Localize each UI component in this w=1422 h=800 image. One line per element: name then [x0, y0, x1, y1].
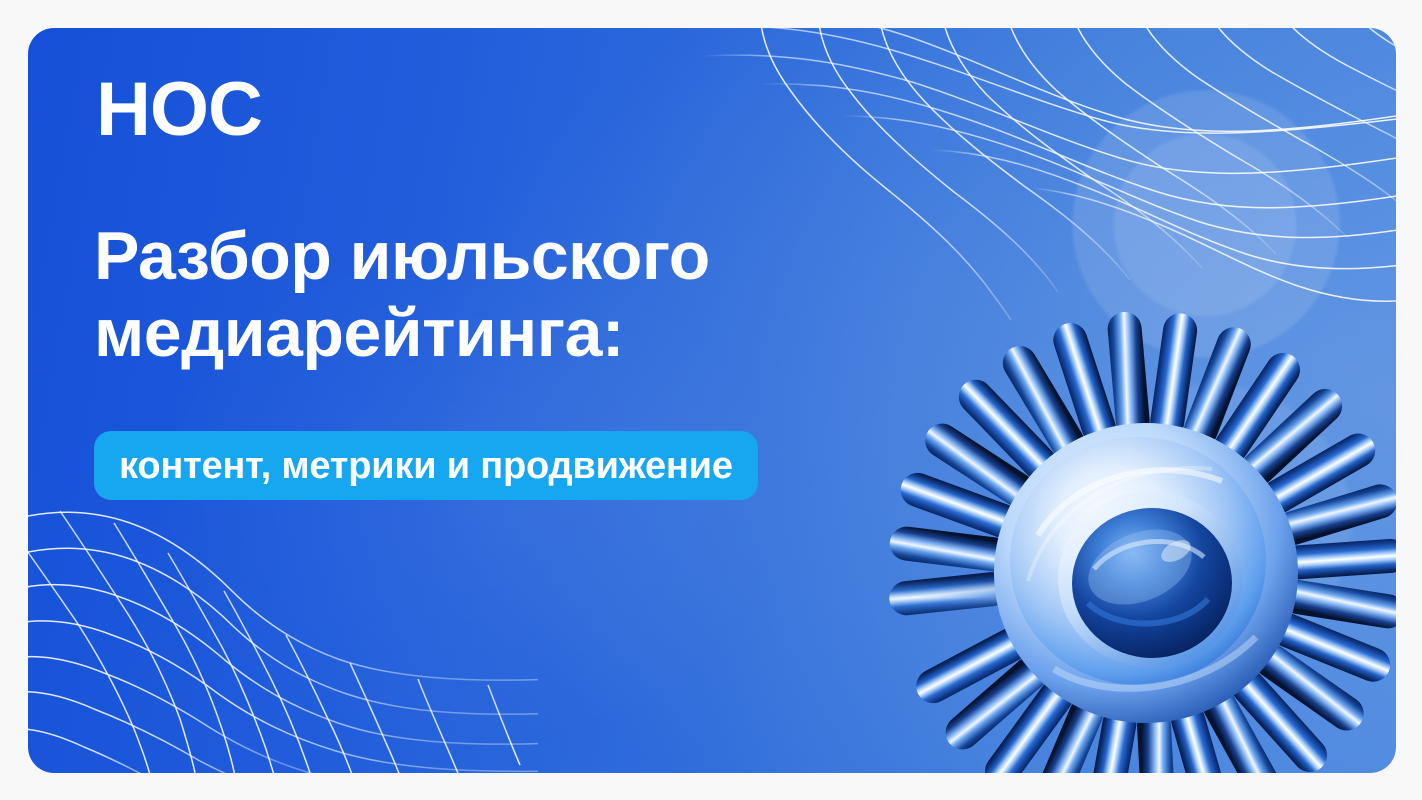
- page-title-line-2: медиарейтинга:: [94, 295, 884, 372]
- promo-card: НОС Разбор июльского медиарейтинга: конт…: [28, 28, 1396, 773]
- page-title: Разбор июльского медиарейтинга:: [94, 218, 884, 372]
- subtitle-pill: контент, метрики и продвижение: [94, 431, 758, 500]
- gear-3d-object-icon: [866, 283, 1396, 773]
- page-title-line-1: Разбор июльского: [94, 218, 710, 294]
- brand-logo: НОС: [96, 72, 262, 148]
- slide-canvas: НОС Разбор июльского медиарейтинга: конт…: [0, 0, 1422, 800]
- subtitle-pill-label: контент, метрики и продвижение: [119, 447, 733, 485]
